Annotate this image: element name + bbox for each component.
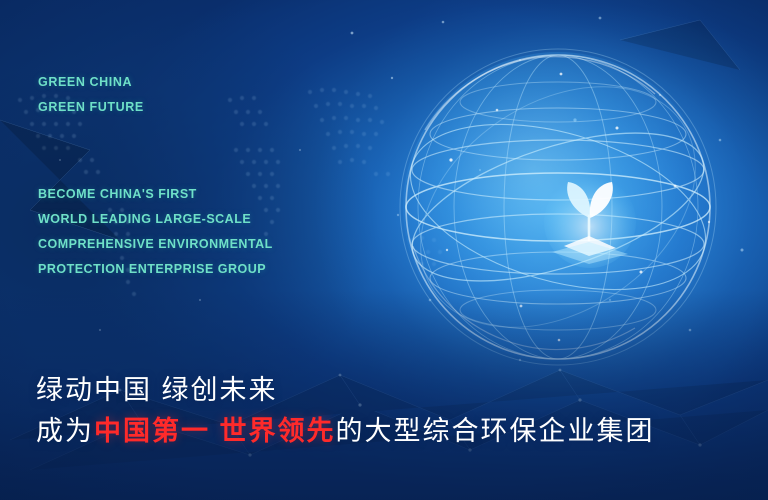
headline-primary: 绿动中国 绿创未来 — [36, 370, 748, 410]
headline-highlight: 中国第一 世界领先 — [94, 416, 336, 446]
headline-secondary: 成为中国第一 世界领先的大型综合环保企业集团 — [36, 410, 748, 452]
chinese-headline: 绿动中国 绿创未来 成为中国第一 世界领先的大型综合环保企业集团 — [36, 370, 748, 452]
english-description-line: WORLD LEADING LARGE-SCALE — [38, 207, 273, 232]
english-tagline-line: GREEN FUTURE — [38, 95, 144, 120]
headline-suffix: 的大型综合环保企业集团 — [336, 416, 655, 446]
banner-hero: GREEN CHINA GREEN FUTURE BECOME CHINA'S … — [0, 0, 768, 500]
headline-prefix: 成为 — [36, 416, 94, 446]
english-description-line: BECOME CHINA'S FIRST — [38, 182, 273, 207]
english-tagline-top: GREEN CHINA GREEN FUTURE — [38, 70, 144, 120]
english-tagline-line: GREEN CHINA — [38, 70, 144, 95]
english-description-line: COMPREHENSIVE ENVIRONMENTAL — [38, 232, 273, 257]
english-description: BECOME CHINA'S FIRST WORLD LEADING LARGE… — [38, 182, 273, 282]
english-description-line: PROTECTION ENTERPRISE GROUP — [38, 257, 273, 282]
